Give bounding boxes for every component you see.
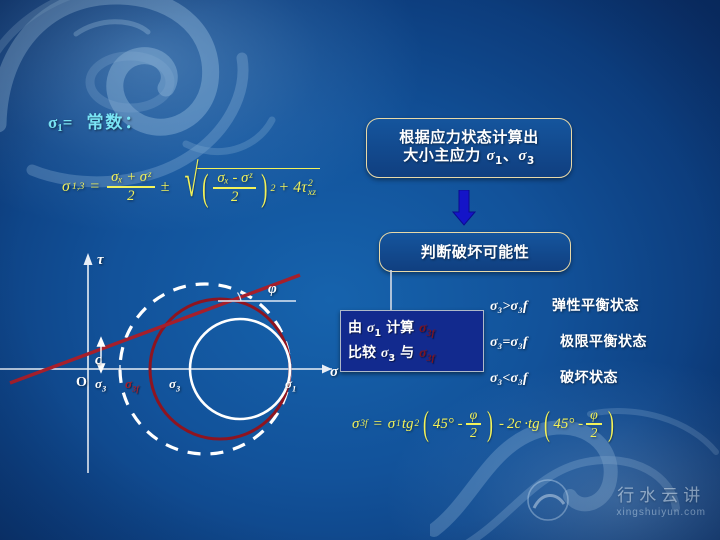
eq2-paren1-open: ( [423, 413, 429, 435]
cohesion-label-c: c [95, 352, 102, 369]
formula-sigma3f: σ3f = σ1tg2 ( 45° - φ 2 ) - 2c ·tg ( 45°… [352, 408, 617, 441]
box-calc-sigma3: σ [518, 148, 527, 164]
condition-2-label: 极限平衡状态 [560, 334, 647, 350]
eq2-paren2-close: ) [608, 413, 614, 435]
heading-sigma-symbol: σ [48, 113, 57, 132]
sigma3-left-subscript: 3 [102, 384, 106, 394]
condition-2-math: σ₃=σ₃f [490, 335, 552, 351]
eq1-frac1-numerator: σₓ + σᶻ [107, 170, 155, 185]
box-calc-sigma1-sub: 1 [495, 155, 503, 167]
origin-label: O [76, 375, 87, 391]
eq2-dot-tg: ·tg [524, 416, 539, 433]
flow-connector-line [390, 270, 392, 312]
sigma-box-l2-red-symbol: σ [419, 346, 427, 361]
eq2-frac1-numerator: φ [466, 408, 482, 422]
sigma3-right-symbol: σ [169, 376, 176, 391]
angle-label-phi: φ [268, 281, 277, 298]
condition-1-label: 弹性平衡状态 [552, 298, 639, 314]
box-calc-sigma1: σ [486, 148, 495, 164]
eq2-frac2-denominator: 2 [591, 426, 598, 440]
sigma-box-l2-prefix: 比较 [348, 345, 381, 361]
eq2-paren2-open: ( [544, 413, 550, 435]
eq1-tail: + 4τ [278, 179, 307, 197]
watermark-chinese-text: 行水云讲 [617, 481, 706, 506]
eq2-minus: - [499, 416, 504, 433]
condition-row-limit: σ₃=σ₃f极限平衡状态 [490, 331, 647, 351]
sigma-box-l1-red-symbol: σ [419, 321, 427, 336]
eq2-fraction-2: φ 2 [586, 408, 602, 441]
eq1-frac1-denominator: 2 [127, 189, 134, 204]
condition-3-label: 破坏状态 [560, 370, 618, 386]
sigma3f-subscript: 3f [132, 384, 139, 394]
sigma-box-line-2: 比较 σ3 与 σ3f [348, 342, 435, 364]
sigma-box-line-1: 由 σ1 计算 σ3f [348, 317, 435, 339]
box-calc-line2: 大小主应力 σ1、σ3 [403, 146, 535, 168]
page-title: σ1=常数： [48, 108, 143, 134]
eq2-fraction-1: φ 2 [466, 408, 482, 441]
heading-equals: = [63, 113, 73, 132]
failure-envelope-line [10, 275, 300, 383]
eq2-paren1-close: ) [487, 413, 493, 435]
sigma-box-l2-red-subscript: 3f [427, 353, 435, 364]
condition-row-elastic: σ₃>σ₃f弹性平衡状态 [490, 295, 639, 315]
radical-icon: √ [185, 168, 199, 206]
box-judge-label: 判断破坏可能性 [421, 243, 530, 261]
eq1-frac2-denominator: 2 [231, 190, 238, 205]
eq1-plus-minus: ± [161, 178, 170, 196]
sigma3-right-subscript: 3 [176, 384, 180, 394]
axis-label-sigma3f: σ3f [125, 376, 139, 394]
eq2-sigma1: σ [388, 416, 395, 433]
eq1-square-root: √ ( σₓ - σᶻ 2 ) 2 + 4τ2xz [173, 168, 320, 206]
eq2-sigma1-subscript: 1 [396, 419, 401, 429]
eq1-frac2-numerator: σₓ - σᶻ [213, 171, 256, 186]
slide-canvas: σ1=常数： σ1,3 = σₓ + σᶻ 2 ± √ ( σₓ - σᶻ 2 … [0, 0, 720, 540]
eq2-angle-1: 45° - [433, 416, 463, 433]
eq2-frac2-numerator: φ [586, 408, 602, 422]
eq1-equals: = [89, 178, 100, 196]
flow-box-judge-failure[interactable]: 判断破坏可能性 [379, 232, 571, 272]
heading-text: 常数： [86, 113, 143, 132]
box-calc-line2-prefix: 大小主应力 [403, 146, 486, 164]
condition-row-failure: σ₃<σ₃f破坏状态 [490, 367, 618, 387]
eq2-lhs-subscript: 3f [360, 419, 367, 429]
eq1-paren-close: ) [261, 177, 267, 200]
eq2-tg: tg [402, 416, 414, 433]
eq2-equals: = [373, 416, 383, 433]
eq1-fraction-1: σₓ + σᶻ 2 [107, 170, 155, 205]
eq1-tail-sub: xz [308, 188, 316, 198]
decorative-swirl-artwork-bottom-right [430, 380, 720, 540]
eq2-tg-power: 2 [415, 419, 420, 429]
box-calc-sigma3-sub: 3 [527, 155, 535, 167]
sigma-calculation-box[interactable]: 由 σ1 计算 σ3f 比较 σ3 与 σ3f [340, 310, 484, 372]
sigma-box-l1-red-subscript: 3f [427, 328, 435, 339]
sigma-box-l2-suffix: 与 [395, 345, 419, 361]
watermark-url: xingshuiyun.com [617, 507, 706, 518]
eq2-frac1-denominator: 2 [470, 426, 477, 440]
condition-1-math: σ₃>σ₃f [490, 299, 552, 315]
axis-label-sigma: σ [330, 364, 338, 381]
sigma-box-l1-suffix: 计算 [381, 320, 419, 336]
box-calc-separator: 、 [503, 146, 519, 164]
mohr-circle-diagram [0, 243, 350, 473]
eq1-radicand: ( σₓ - σᶻ 2 ) 2 + 4τ2xz [197, 168, 320, 206]
sigma3f-symbol: σ [125, 376, 132, 391]
eq1-fraction-2: σₓ - σᶻ 2 [213, 171, 256, 206]
eq2-coefficient: 2c [507, 416, 521, 433]
axis-label-sigma3-left: σ3 [95, 376, 106, 394]
eq1-paren-open: ( [202, 177, 208, 200]
condition-3-math: σ₃<σ₃f [490, 371, 552, 387]
formula-principal-stress: σ1,3 = σₓ + σᶻ 2 ± √ ( σₓ - σᶻ 2 ) 2 + 4… [62, 168, 320, 206]
box-calc-line1: 根据应力状态计算出 [399, 128, 539, 146]
eq2-angle-2: 45° - [553, 416, 583, 433]
axis-label-tau: τ [97, 252, 104, 269]
eq1-lhs: σ [62, 178, 70, 196]
sigma-box-l1-prefix: 由 [348, 320, 367, 336]
sigma1-symbol: σ [285, 376, 292, 391]
eq2-lhs: σ [352, 416, 359, 433]
watermark-logo-icon [526, 478, 570, 522]
watermark: 行水云讲 xingshuiyun.com [617, 481, 706, 518]
eq1-lhs-subscript: 1,3 [72, 181, 84, 192]
sigma1-subscript: 1 [292, 384, 296, 394]
eq1-power: 2 [270, 183, 275, 194]
axis-label-sigma1: σ1 [285, 376, 296, 394]
down-arrow-icon [452, 190, 476, 226]
flow-box-calculate-principal-stress[interactable]: 根据应力状态计算出 大小主应力 σ1、σ3 [366, 118, 572, 178]
axis-label-sigma3-right: σ3 [169, 376, 180, 394]
sigma3-left-symbol: σ [95, 376, 102, 391]
